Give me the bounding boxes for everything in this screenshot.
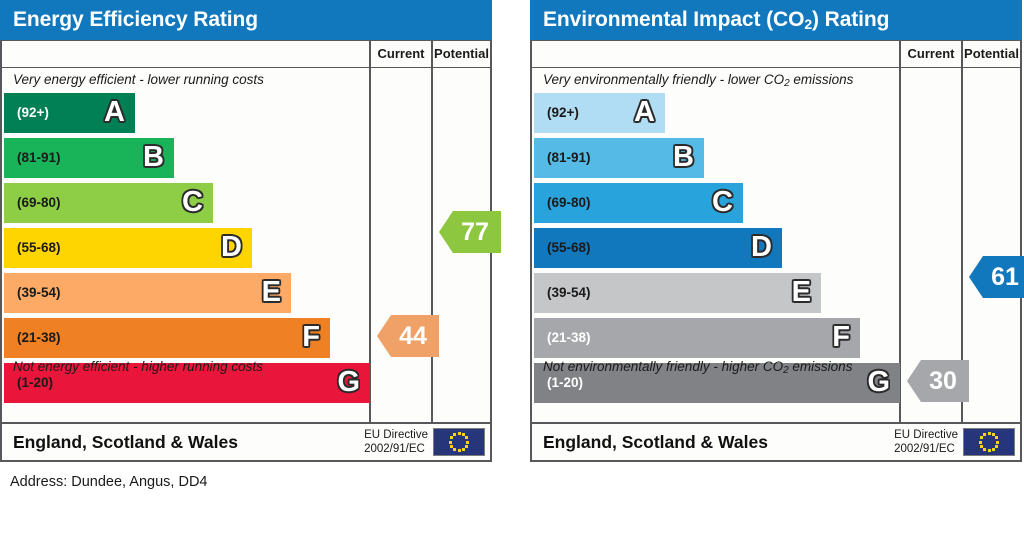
eu-star [450, 445, 453, 448]
caption-top-co2-sub: 2 [784, 78, 790, 89]
directive-line-2: 2002/91/EC [364, 442, 428, 456]
band-a-range: (92+) [17, 93, 49, 133]
caption-bottom-co2-main: Not environmentally friendly - higher CO [543, 359, 783, 374]
band-e-co2-range: (39-54) [547, 273, 591, 313]
band-g-co2-letter: G [867, 363, 890, 403]
band-c-co2-letter: C [712, 183, 733, 223]
eu-star [995, 436, 998, 439]
band-d: (55-68) D [4, 228, 252, 268]
band-c-co2-range: (69-80) [547, 183, 591, 223]
eu-star [996, 441, 999, 444]
band-b-range: (81-91) [17, 138, 61, 178]
eu-star [995, 445, 998, 448]
band-b-co2-letter: B [673, 138, 694, 178]
epc-chart-page: Energy Efficiency Rating Current Potenti… [0, 0, 1024, 549]
caption-top-co2: Very environmentally friendly - lower CO… [543, 72, 853, 87]
band-a: (92+) A [4, 93, 135, 133]
band-f-range: (21-38) [17, 318, 61, 358]
band-f-co2: (21-38) F [534, 318, 860, 358]
chart-footer-energy: England, Scotland & Wales EU Directive 2… [0, 424, 492, 462]
footer-region-co2: England, Scotland & Wales [543, 424, 768, 460]
property-address: Address: Dundee, Angus, DD4 [10, 474, 207, 490]
band-c: (69-80) C [4, 183, 213, 223]
eu-star [988, 432, 991, 435]
eu-star [453, 448, 456, 451]
eu-star [983, 448, 986, 451]
band-e-letter: E [262, 273, 281, 313]
band-d-range: (55-68) [17, 228, 61, 268]
eu-star [462, 448, 465, 451]
eu-star [453, 433, 456, 436]
band-f-letter: F [302, 318, 320, 358]
band-f-co2-letter: F [832, 318, 850, 358]
caption-bottom-co2-sub: 2 [783, 365, 789, 376]
band-d-co2: (55-68) D [534, 228, 782, 268]
environmental-impact-chart: Environmental Impact (CO2) Rating Curren… [530, 0, 1022, 462]
eu-star [980, 445, 983, 448]
band-c-letter: C [182, 183, 203, 223]
band-a-co2-range: (92+) [547, 93, 579, 133]
chart-title-co2-sub: 2 [804, 16, 812, 32]
eu-star [465, 436, 468, 439]
eu-flag-icon-co2 [963, 428, 1015, 456]
current-rating-badge-co2: 30 [907, 360, 969, 402]
eu-star [449, 441, 452, 444]
chart-title-energy: Energy Efficiency Rating [0, 0, 492, 40]
band-b-co2-range: (81-91) [547, 138, 591, 178]
directive-line-1: EU Directive [364, 428, 428, 442]
eu-star [458, 432, 461, 435]
directive-line-1-co2: EU Directive [894, 428, 958, 442]
band-e-range: (39-54) [17, 273, 61, 313]
band-a-co2-letter: A [634, 93, 655, 133]
current-rating-badge-energy: 44 [377, 315, 439, 357]
eu-star [983, 433, 986, 436]
band-f: (21-38) F [4, 318, 330, 358]
chart-body-energy: Current Potential Very energy efficient … [0, 40, 492, 424]
column-header-row-co2: Current Potential [532, 41, 1020, 68]
band-b-co2: (81-91) B [534, 138, 704, 178]
potential-rating-badge-co2: 61 [969, 256, 1024, 298]
band-c-range: (69-80) [17, 183, 61, 223]
chart-title-co2-tail: ) Rating [812, 8, 889, 31]
divider-potential [431, 41, 433, 422]
band-c-co2: (69-80) C [534, 183, 743, 223]
eu-star [465, 445, 468, 448]
column-header-current: Current [371, 41, 431, 67]
eu-star [450, 436, 453, 439]
directive-line-2-co2: 2002/91/EC [894, 442, 958, 456]
chart-body-co2: Current Potential Very environmentally f… [530, 40, 1022, 424]
band-d-letter: D [221, 228, 242, 268]
footer-region-energy: England, Scotland & Wales [13, 424, 238, 460]
eu-star [988, 449, 991, 452]
eu-star [992, 448, 995, 451]
eu-star [979, 441, 982, 444]
eu-star [980, 436, 983, 439]
caption-top-co2-main: Very environmentally friendly - lower CO [543, 72, 784, 87]
band-e-co2-letter: E [792, 273, 811, 313]
footer-directive-co2: EU Directive 2002/91/EC [894, 428, 958, 456]
band-d-co2-letter: D [751, 228, 772, 268]
band-a-letter: A [104, 93, 125, 133]
column-header-potential: Potential [433, 41, 490, 67]
band-e-co2: (39-54) E [534, 273, 821, 313]
caption-bottom-co2-tail: emissions [789, 359, 853, 374]
band-d-co2-range: (55-68) [547, 228, 591, 268]
band-f-co2-range: (21-38) [547, 318, 591, 358]
caption-bottom-energy: Not energy efficient - higher running co… [13, 359, 263, 374]
column-header-row-energy: Current Potential [2, 41, 490, 68]
chart-footer-co2: England, Scotland & Wales EU Directive 2… [530, 424, 1022, 462]
band-g-letter: G [337, 363, 360, 403]
band-e: (39-54) E [4, 273, 291, 313]
column-header-current-co2: Current [901, 41, 961, 67]
band-b: (81-91) B [4, 138, 174, 178]
caption-bottom-co2: Not environmentally friendly - higher CO… [543, 359, 852, 374]
chart-title-co2: Environmental Impact (CO2) Rating [530, 0, 1022, 40]
eu-flag-icon [433, 428, 485, 456]
footer-directive-energy: EU Directive 2002/91/EC [364, 428, 428, 456]
energy-efficiency-chart: Energy Efficiency Rating Current Potenti… [0, 0, 492, 462]
band-a-co2: (92+) A [534, 93, 665, 133]
chart-title-co2-main: Environmental Impact (CO [543, 8, 804, 31]
eu-star [466, 441, 469, 444]
potential-rating-badge-energy: 77 [439, 211, 501, 253]
eu-star [458, 449, 461, 452]
caption-top-energy: Very energy efficient - lower running co… [13, 72, 264, 87]
column-header-potential-co2: Potential [963, 41, 1020, 67]
band-b-letter: B [143, 138, 164, 178]
caption-top-co2-tail: emissions [790, 72, 854, 87]
